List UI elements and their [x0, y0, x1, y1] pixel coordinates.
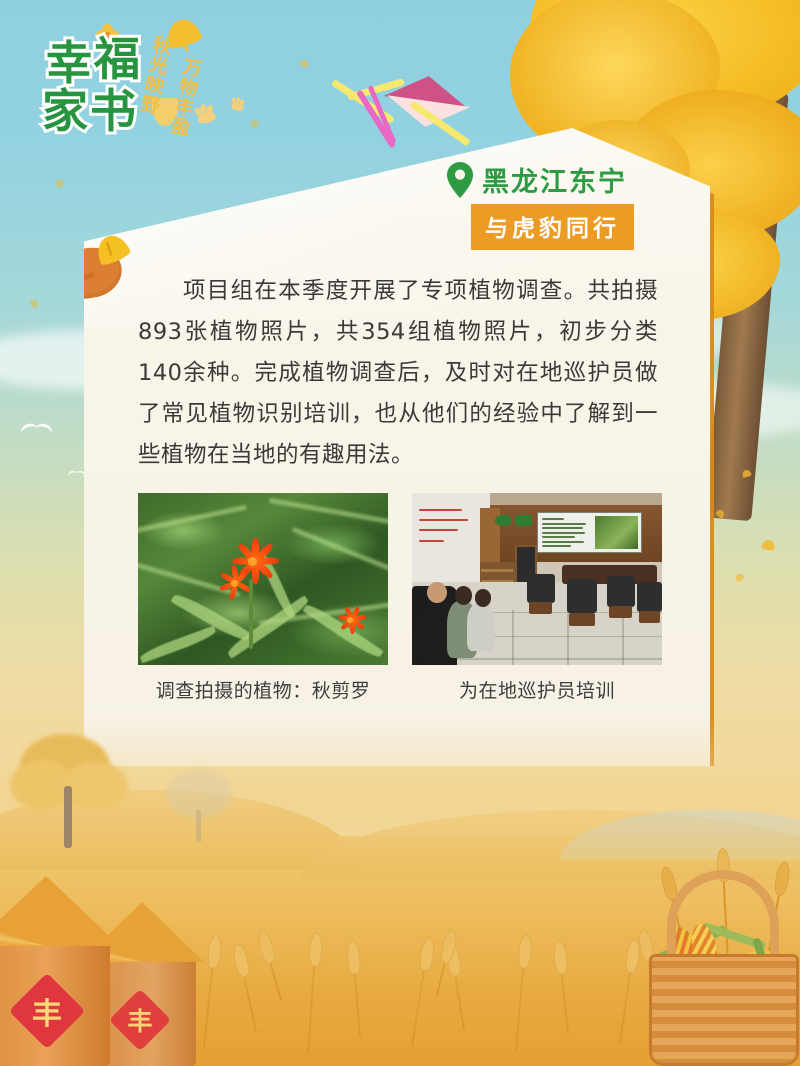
granary-icon: 丰 — [0, 866, 142, 1066]
attendee — [455, 586, 473, 605]
harvest-basket-icon — [641, 866, 800, 1066]
photo-item: 为在地巡护员培训 — [412, 493, 662, 703]
logo-char: 福 — [94, 36, 138, 82]
attendee — [467, 603, 495, 651]
photo-caption: 调查拍摄的植物：秋剪罗 — [138, 676, 388, 703]
location-pin-icon — [446, 162, 474, 198]
granary-label: 丰 — [20, 984, 74, 1038]
article-body: 项目组在本季度开展了专项植物调查。共拍摄893张植物照片，共354组植物照片，初… — [138, 271, 658, 476]
content-card: 黑龙江东宁 与虎豹同行 项目组在本季度开展了专项植物调查。共拍摄893张植物照片… — [84, 128, 710, 776]
bird-icon — [68, 471, 86, 479]
presentation-screen — [537, 512, 642, 553]
plant-survey-photo — [138, 493, 388, 665]
distant-tree-icon — [160, 770, 240, 840]
kite-icon — [355, 72, 465, 162]
article-paragraph: 项目组在本季度开展了专项植物调查。共拍摄893张植物照片，共354组植物照片，初… — [138, 271, 658, 476]
bird-icon — [21, 424, 53, 439]
attendee — [427, 582, 447, 603]
location-title: 黑龙江东宁 — [482, 160, 627, 199]
logo-char: 家 — [42, 88, 86, 134]
distant-tree-icon — [10, 734, 130, 844]
attendee — [475, 589, 491, 606]
photo-caption: 为在地巡护员培训 — [412, 676, 662, 703]
poster-root: 幸 福 家 书 秋光映野 万物丰盈 — [0, 0, 800, 1066]
flower-icon — [334, 605, 366, 635]
paw-print-icon — [230, 97, 246, 111]
logo-char: 幸 — [46, 40, 90, 86]
photo-gallery: 调查拍摄的植物：秋剪罗 — [138, 493, 662, 703]
photo-item: 调查拍摄的植物：秋剪罗 — [138, 493, 388, 703]
ranger-training-photo — [412, 493, 662, 665]
wall-poster — [417, 502, 472, 554]
location-badge: 黑龙江东宁 与虎豹同行 — [446, 160, 646, 250]
logo-char: 书 — [90, 88, 134, 134]
location-banner: 与虎豹同行 — [471, 204, 634, 250]
